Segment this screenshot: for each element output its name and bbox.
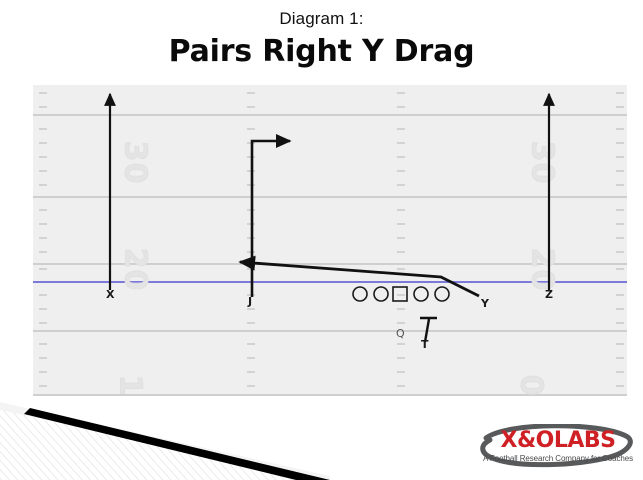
hash-mark xyxy=(397,209,405,211)
hash-mark xyxy=(39,184,47,186)
hash-mark xyxy=(397,106,405,108)
hash-mark xyxy=(616,294,624,296)
logo-wordmark: X&OLABS xyxy=(478,428,638,453)
yard-number: 1 xyxy=(112,375,147,396)
hash-mark xyxy=(616,343,624,345)
hash-mark xyxy=(39,343,47,345)
hash-mark xyxy=(247,322,255,324)
logo-tagline: A Football Research Company for Coaches xyxy=(478,454,638,463)
logo-labs-text: LABS xyxy=(554,428,616,453)
slide-canvas: Diagram 1: Pairs Right Y Drag xyxy=(0,0,643,480)
hash-mark xyxy=(616,128,624,130)
hash-mark xyxy=(247,209,255,211)
logo-xo-text: X&O xyxy=(500,428,553,453)
yard-number: 30 xyxy=(117,141,152,185)
hash-mark xyxy=(39,308,47,310)
hash-mark xyxy=(247,343,255,345)
hash-mark xyxy=(39,106,47,108)
hash-mark xyxy=(397,371,405,373)
hash-mark xyxy=(39,142,47,144)
hash-mark xyxy=(39,237,47,239)
hash-mark xyxy=(39,209,47,211)
diagram-subtitle: Diagram 1: xyxy=(0,8,643,30)
player-label-t: T xyxy=(421,338,429,351)
hash-mark xyxy=(39,357,47,359)
hash-mark xyxy=(616,308,624,310)
hash-mark xyxy=(397,357,405,359)
hash-mark xyxy=(247,223,255,225)
brand-logo[interactable]: X&OLABS A Football Research Company for … xyxy=(478,424,638,472)
hash-mark xyxy=(397,294,405,296)
hash-mark xyxy=(247,357,255,359)
yard-line xyxy=(33,196,627,198)
hash-mark xyxy=(39,385,47,387)
hash-mark xyxy=(39,92,47,94)
hash-mark xyxy=(39,251,47,253)
hash-mark xyxy=(247,385,255,387)
hash-mark xyxy=(616,251,624,253)
hash-mark xyxy=(616,156,624,158)
hash-mark xyxy=(616,322,624,324)
hash-mark xyxy=(39,128,47,130)
football-field: 30 20 1 30 20 0 xyxy=(33,85,627,396)
hash-mark xyxy=(616,170,624,172)
yard-number: 30 xyxy=(524,141,559,185)
hash-mark xyxy=(616,209,624,211)
yard-number: 0 xyxy=(513,375,548,396)
hash-mark xyxy=(247,142,255,144)
hash-mark xyxy=(39,170,47,172)
title-block: Diagram 1: Pairs Right Y Drag xyxy=(0,8,643,72)
hash-mark xyxy=(247,184,255,186)
hash-mark xyxy=(616,223,624,225)
player-label-z: Z xyxy=(545,288,553,301)
player-label-q: Q xyxy=(396,327,405,340)
hash-mark xyxy=(397,251,405,253)
hash-mark xyxy=(39,268,47,270)
hash-mark xyxy=(397,385,405,387)
hash-mark xyxy=(247,170,255,172)
hash-mark xyxy=(397,184,405,186)
yard-number: 20 xyxy=(524,248,559,292)
hash-mark xyxy=(397,237,405,239)
hash-mark xyxy=(397,268,405,270)
hash-mark xyxy=(247,106,255,108)
player-label-x: X xyxy=(106,288,114,301)
hash-mark xyxy=(397,128,405,130)
hash-mark xyxy=(616,371,624,373)
hash-mark xyxy=(247,251,255,253)
hash-mark xyxy=(397,156,405,158)
hash-mark xyxy=(616,142,624,144)
hash-mark xyxy=(247,237,255,239)
hash-mark xyxy=(397,142,405,144)
yard-line xyxy=(33,330,627,332)
yard-number: 20 xyxy=(117,248,152,292)
hash-mark xyxy=(247,92,255,94)
hash-mark xyxy=(616,357,624,359)
hash-mark xyxy=(39,156,47,158)
hash-mark xyxy=(39,294,47,296)
hash-mark xyxy=(616,268,624,270)
hash-mark xyxy=(39,223,47,225)
hash-mark xyxy=(616,237,624,239)
hash-mark xyxy=(397,308,405,310)
hash-mark xyxy=(397,343,405,345)
yard-line xyxy=(33,114,627,116)
hash-mark xyxy=(247,156,255,158)
hash-mark xyxy=(397,170,405,172)
hash-mark xyxy=(247,128,255,130)
player-label-j: J xyxy=(248,295,252,308)
hash-mark xyxy=(39,371,47,373)
hash-mark xyxy=(397,223,405,225)
hash-mark xyxy=(616,92,624,94)
hash-mark xyxy=(397,92,405,94)
player-label-y: Y xyxy=(481,297,489,310)
hash-mark xyxy=(39,322,47,324)
hash-mark xyxy=(616,385,624,387)
hash-mark xyxy=(397,322,405,324)
hash-mark xyxy=(247,371,255,373)
hash-mark xyxy=(616,106,624,108)
hash-mark xyxy=(247,308,255,310)
hash-mark xyxy=(247,268,255,270)
hash-mark xyxy=(616,184,624,186)
page-title: Pairs Right Y Drag xyxy=(0,32,643,72)
